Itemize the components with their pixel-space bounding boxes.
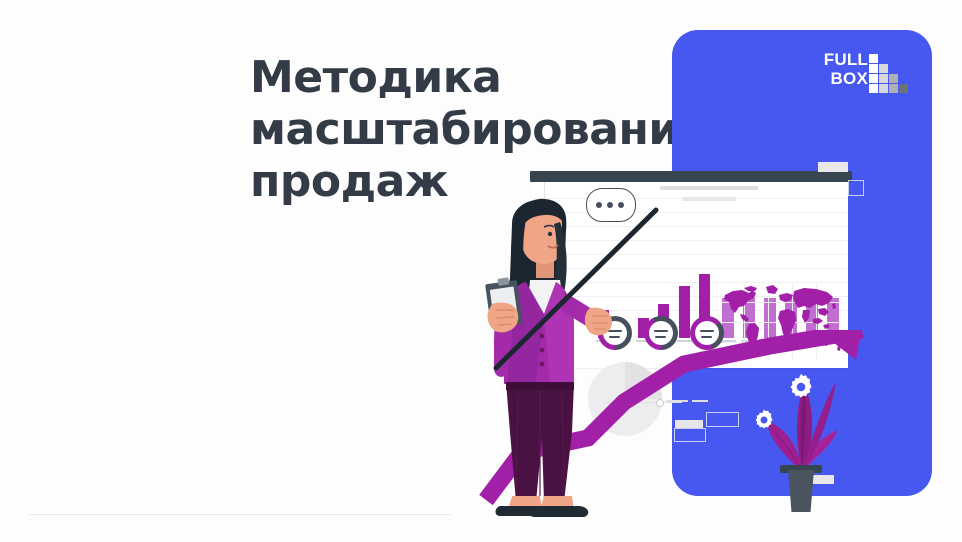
logo-line-full: FULL: [806, 50, 868, 69]
pointer-stick: [470, 190, 670, 380]
plant-decoration: [756, 380, 848, 510]
plant-pot: [784, 470, 818, 512]
gear-icon-large: [786, 372, 816, 402]
logo-wordmark: FULL BOX: [806, 50, 868, 88]
logo-line-box: BOX: [806, 69, 868, 88]
fullbox-logo: FULL BOX: [806, 50, 918, 100]
slide-canvas: Методика масштабирования продаж FULL BOX: [0, 0, 962, 542]
whiteboard-top-frame: [530, 171, 852, 182]
gear-icon-small: [752, 408, 776, 432]
sales-scaling-illustration: FULL BOX: [470, 0, 962, 542]
ground-line: [30, 514, 450, 515]
whiteboard-tab-chip: [818, 162, 848, 172]
whiteboard-corner-chip: [848, 180, 864, 196]
logo-blocks-icon: [869, 54, 915, 94]
